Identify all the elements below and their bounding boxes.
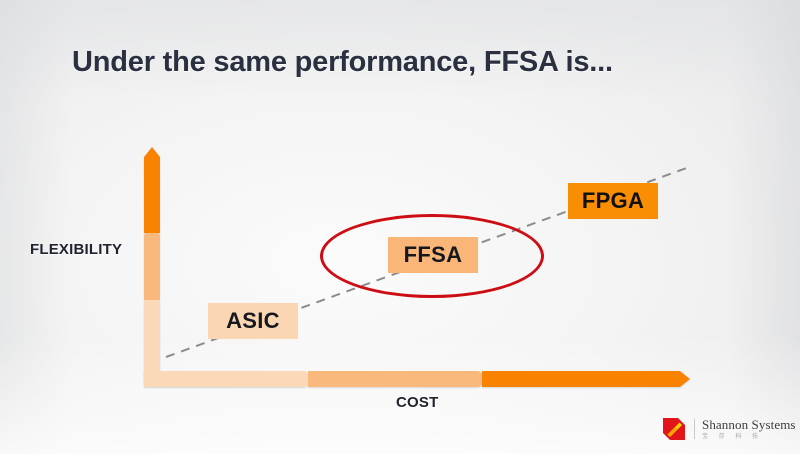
slide-title: Under the same performance, FFSA is... [72,46,613,79]
logo-text-block: Shannon Systems 宝 存 科 技 [702,418,796,440]
y-axis [144,147,160,382]
y-axis-label: FLEXIBILITY [30,241,122,258]
x-axis-label: COST [396,394,438,411]
x-axis-segment-high [482,371,690,387]
slide-canvas: Under the same performance, FFSA is... [0,0,800,454]
y-axis-segment-low [144,293,160,382]
logo-company-name: Shannon Systems [702,418,796,431]
shannon-logo-icon [661,416,687,442]
y-axis-segment-high [144,147,160,233]
x-axis-segment-mid [308,371,488,387]
company-logo: Shannon Systems 宝 存 科 技 [661,416,796,442]
x-axis [144,371,690,387]
y-axis-segment-mid [144,226,160,300]
data-point-fpga[interactable]: FPGA [568,183,658,219]
logo-divider [694,419,695,439]
highlight-ellipse-annotation [320,214,544,298]
data-point-asic[interactable]: ASIC [208,303,298,339]
x-axis-segment-low [144,371,314,387]
logo-company-subtitle: 宝 存 科 技 [702,434,796,440]
